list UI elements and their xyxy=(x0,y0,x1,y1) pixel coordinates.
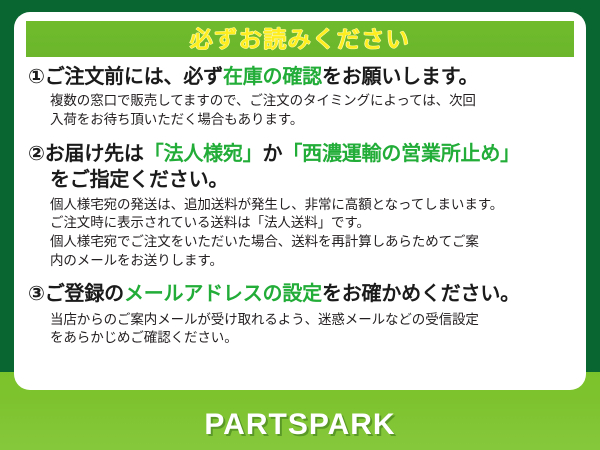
notice-section-3: ③ご登録のメールアドレスの設定をお確かめください。当店からのご案内メールが受け取… xyxy=(28,282,572,347)
body-line: 個人様宅宛でご注文をいただいた場合、送料を再計算しあらためてご案 xyxy=(50,233,572,252)
heading-highlight: メールアドレスの設定 xyxy=(124,283,322,305)
section-body: 当店からのご案内メールが受け取れるよう、迷惑メールなどの受信設定をあらかじめご確… xyxy=(28,311,572,348)
page-title: 必ずお読みください xyxy=(190,28,411,51)
heading-text: か xyxy=(263,143,283,165)
section-heading: ③ご登録のメールアドレスの設定をお確かめください。 xyxy=(28,282,572,307)
brand-logo: PARTSPARK xyxy=(0,408,600,442)
notice-section-1: ①ご注文前には、必ず在庫の確認をお願いします。複数の窓口で販売してますので、ご注… xyxy=(28,65,572,129)
heading-text: をお確かめください。 xyxy=(322,283,520,305)
body-line: 個人様宅宛の発送は、追加送料が発生し、非常に高額となってしまいます。 xyxy=(50,196,572,215)
notice-card: 必ずお読みください ①ご注文前には、必ず在庫の確認をお願いします。複数の窓口で販… xyxy=(14,12,586,390)
section-marker: ③ xyxy=(28,283,45,305)
heading-text: ご注文前には、必ず xyxy=(45,66,223,88)
heading-highlight: 在庫の確認 xyxy=(223,66,322,88)
body-line: 内のメールをお送りします。 xyxy=(50,252,572,271)
section-heading: ①ご注文前には、必ず在庫の確認をお願いします。 xyxy=(28,65,572,90)
section-body: 複数の窓口で販売してますので、ご注文のタイミングによっては、次回入荷をお待ち頂い… xyxy=(28,92,572,129)
sections-container: ①ご注文前には、必ず在庫の確認をお願いします。複数の窓口で販売してますので、ご注… xyxy=(26,57,574,348)
section-heading-line2: をご指定ください。 xyxy=(28,168,572,193)
heading-text: をお願いします。 xyxy=(322,66,478,88)
body-line: 複数の窓口で販売してますので、ご注文のタイミングによっては、次回 xyxy=(50,92,572,111)
section-marker: ① xyxy=(28,66,45,88)
heading-text: ご登録の xyxy=(45,283,124,305)
header-bar: 必ずお読みください xyxy=(26,21,574,57)
body-line: 当店からのご案内メールが受け取れるよう、迷惑メールなどの受信設定 xyxy=(50,311,572,330)
notice-frame: 必ずお読みください ①ご注文前には、必ず在庫の確認をお願いします。複数の窓口で販… xyxy=(0,0,600,450)
body-line: をあらかじめご確認ください。 xyxy=(50,329,572,348)
notice-section-2: ②お届け先は「法人様宛」か「西濃運輸の営業所止め」をご指定ください。個人様宅宛の… xyxy=(28,142,572,270)
body-line: 入荷をお待ち頂いただく場合もあります。 xyxy=(50,111,572,130)
section-body: 個人様宅宛の発送は、追加送料が発生し、非常に高額となってしまいます。ご注文時に表… xyxy=(28,196,572,271)
heading-highlight: 「西濃運輸の営業所止め」 xyxy=(282,143,520,165)
heading-highlight: 「法人様宛」 xyxy=(144,143,263,165)
heading-text: お届け先は xyxy=(45,143,144,165)
body-line: ご注文時に表示されている送料は「法人送料」です。 xyxy=(50,214,572,233)
section-marker: ② xyxy=(28,143,45,165)
section-heading: ②お届け先は「法人様宛」か「西濃運輸の営業所止め」 xyxy=(28,142,572,167)
